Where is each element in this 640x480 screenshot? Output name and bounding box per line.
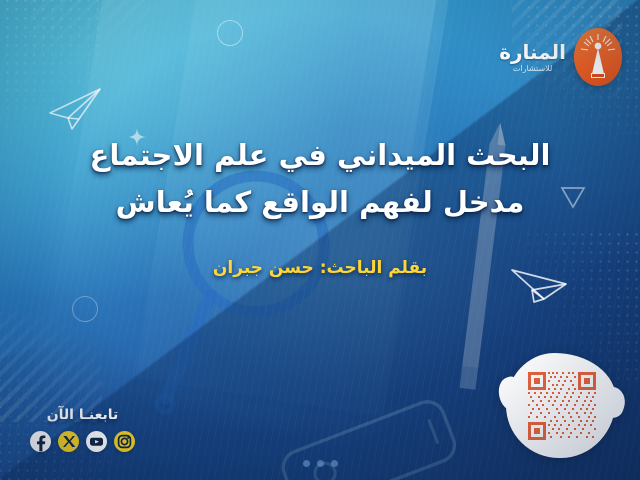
brand-name: المنارة bbox=[499, 42, 566, 62]
headline-block: البحث الميداني في علم الاجتماع مدخل لفهم… bbox=[0, 132, 640, 226]
circle-outline-decoration bbox=[217, 20, 243, 46]
pager-dot[interactable] bbox=[303, 460, 310, 467]
follow-us-block: تابعنـا الآن bbox=[30, 407, 135, 452]
youtube-icon[interactable] bbox=[86, 431, 107, 452]
facebook-icon[interactable] bbox=[30, 431, 51, 452]
byline-text: بقلم الباحث: حسن جبران bbox=[213, 258, 427, 278]
brand-logo[interactable]: المنارة للاستشارات bbox=[499, 28, 622, 86]
brand-wordmark: المنارة للاستشارات bbox=[499, 42, 566, 73]
pager-dot[interactable] bbox=[331, 460, 338, 467]
follow-us-label: تابعنـا الآن bbox=[30, 407, 135, 423]
circle-outline-decoration bbox=[72, 296, 98, 322]
pager-dots bbox=[0, 460, 640, 467]
headline-line-1: البحث الميداني في علم الاجتماع bbox=[46, 132, 594, 179]
pager-dot[interactable] bbox=[317, 460, 324, 467]
brand-tagline: للاستشارات bbox=[513, 65, 553, 73]
x-twitter-icon[interactable] bbox=[58, 431, 79, 452]
byline-block: بقلم الباحث: حسن جبران bbox=[0, 258, 640, 278]
poster-canvas: المنارة للاستشارات البحث الميداني في علم… bbox=[0, 0, 640, 480]
lighthouse-icon bbox=[574, 28, 622, 86]
headline-line-2: مدخل لفهم الواقع كما يُعاش bbox=[46, 179, 594, 226]
instagram-icon[interactable] bbox=[114, 431, 135, 452]
social-links-row bbox=[30, 431, 135, 452]
qr-code[interactable] bbox=[528, 372, 596, 440]
qr-code-block[interactable] bbox=[506, 353, 616, 458]
